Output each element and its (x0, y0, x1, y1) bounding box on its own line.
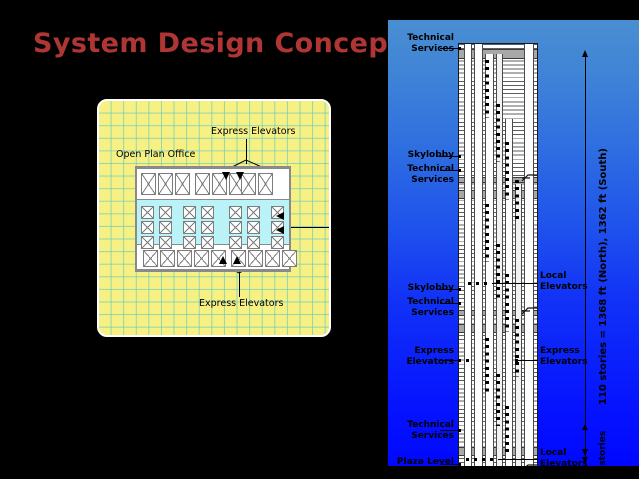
leader-dot (458, 169, 461, 172)
express-elevator-arrow-left (276, 226, 284, 234)
leader-dot (458, 463, 461, 466)
section-label-technical-services: Technical Services (396, 164, 454, 185)
express-elevator-arrow-down (236, 172, 244, 180)
building-core-plan (135, 166, 291, 272)
elevator-stops (515, 180, 519, 222)
core-cell-group (229, 206, 242, 249)
label-express-elevators-bottom: Express Elevators (199, 298, 283, 309)
dimension-arrow-sub-bottom (582, 457, 588, 463)
leader-dot (474, 458, 477, 461)
label-express-elevators-top: Express Elevators (211, 126, 295, 137)
elevator-stops (496, 374, 500, 426)
leader-line (440, 156, 460, 157)
section-label-local-elevators: Local Elevators (540, 448, 588, 466)
page-title: System Design Concept (33, 28, 401, 59)
leader-line (492, 283, 538, 284)
dimension-text-sub: 5 stories (598, 431, 608, 466)
dimension-arrow-sub-top (582, 424, 588, 430)
leader-line (498, 459, 538, 460)
leader-dot (476, 282, 479, 285)
core-cell-group (247, 206, 260, 249)
elevator-stops (496, 244, 500, 300)
leader-dot (466, 359, 469, 362)
express-elevator-arrow-up (219, 256, 227, 264)
slide-canvas: System Design Concept Open Plan Office E… (0, 0, 639, 479)
dimension-text-main: 110 stories = 1368 ft (North), 1362 ft (… (598, 148, 609, 405)
leader-dot (515, 359, 518, 362)
elevator-stops (505, 142, 509, 200)
elevator-shaft (524, 44, 534, 466)
skylobby-crossover-icon (521, 173, 538, 183)
section-label-express-elevators: Express Elevators (396, 346, 454, 367)
core-cell-group (183, 206, 196, 249)
leader-dot (458, 302, 461, 305)
floor-plan-panel: Open Plan Office Express Elevators Expre… (97, 99, 331, 337)
elevator-stops (485, 338, 489, 392)
section-label-technical-services: Technical Services (396, 297, 454, 318)
leader-dot (458, 288, 461, 291)
leader-dot (458, 359, 461, 362)
core-cell-group (159, 206, 172, 249)
leader-dot (458, 47, 461, 50)
elevator-stops (505, 406, 509, 456)
tower-section (458, 43, 538, 466)
section-label-local-elevators: Local Elevators (540, 271, 588, 292)
plaza-crossover-icon (521, 463, 538, 466)
section-panel: Technical Services Skylobby Technical Se… (388, 20, 639, 466)
elevator-shaft (464, 44, 472, 466)
core-cell-group (241, 173, 273, 195)
leader-line (518, 360, 538, 361)
skylobby-crossover-icon (521, 306, 538, 316)
leader-line (440, 360, 460, 361)
elevator-stops (485, 60, 489, 118)
core-cell-group (141, 206, 154, 249)
core-cell-group (143, 250, 226, 267)
leader-dot (458, 155, 461, 158)
leader-dot (468, 282, 471, 285)
express-elevator-arrow-left (276, 212, 284, 220)
height-dimension-line (585, 54, 586, 454)
elevator-shaft (474, 44, 483, 466)
leader-line (440, 430, 460, 431)
section-label-express-elevators: Express Elevators (540, 346, 588, 367)
elevator-stops (515, 319, 519, 377)
express-elevator-arrow-up (233, 256, 241, 264)
label-open-plan-office: Open Plan Office (116, 149, 195, 160)
elevator-stops (485, 204, 489, 262)
leader-dot (458, 429, 461, 432)
leader-dot (482, 458, 485, 461)
elevator-stops (496, 104, 500, 162)
leader-dot (490, 458, 493, 461)
leader-line (440, 464, 460, 465)
leader-dot (484, 282, 487, 285)
core-cell-group (141, 173, 190, 195)
section-label-technical-services: Technical Services (396, 33, 454, 54)
leader-line (440, 303, 460, 304)
dimension-arrow-top (582, 50, 588, 57)
core-cell-group (201, 206, 214, 249)
leader-line (440, 289, 460, 290)
express-elevator-arrow-down (222, 172, 230, 180)
leader-line (440, 48, 460, 49)
leader-dot (466, 458, 469, 461)
leader-line (440, 170, 460, 171)
